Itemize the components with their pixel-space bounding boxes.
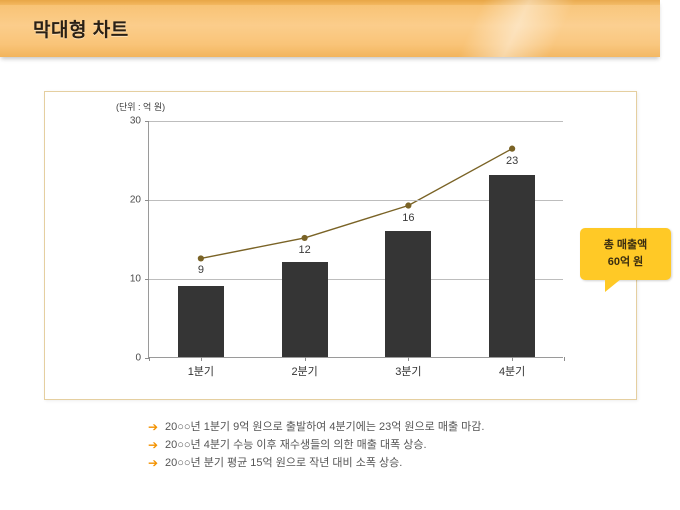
chart-panel: (단위 : 억 원) 010203091분기122분기163분기234분기 총 … <box>44 91 637 400</box>
chart-x-axis-tick-label: 3분기 <box>373 363 443 379</box>
bullet-list: ➔20○○년 1분기 9억 원으로 출발하여 4분기에는 23억 원으로 매출 … <box>148 418 484 472</box>
bullet-item-text: 20○○년 분기 평균 15억 원으로 작년 대비 소폭 상승. <box>165 454 402 472</box>
chart-bar <box>385 231 431 357</box>
chart-data-label: 23 <box>492 155 532 167</box>
chart-y-axis-tick-mark <box>145 279 149 280</box>
chart-bar <box>489 175 535 357</box>
chart-gridline <box>149 121 563 122</box>
chart-y-axis-tick-label: 10 <box>113 274 141 285</box>
chart-bar <box>178 286 224 357</box>
chart-x-axis-tick-mark <box>564 357 565 361</box>
chart-y-axis-tick-mark <box>145 121 149 122</box>
chart-x-axis-tick-label: 1분기 <box>166 363 236 379</box>
chart-line-marker <box>302 235 308 241</box>
chart-y-axis-tick-label: 0 <box>113 353 141 364</box>
callout-line-2: 60억 원 <box>608 254 644 271</box>
chart-data-label: 9 <box>181 264 221 276</box>
bullet-item: ➔20○○년 분기 평균 15억 원으로 작년 대비 소폭 상승. <box>148 454 484 472</box>
bullet-item-text: 20○○년 4분기 수능 이후 재수생들의 의한 매출 대폭 상승. <box>165 436 427 454</box>
callout-tail <box>605 279 621 292</box>
arrow-right-icon: ➔ <box>148 454 165 472</box>
chart-x-axis-tick-mark <box>512 357 513 361</box>
chart-unit-label: (단위 : 억 원) <box>116 100 165 113</box>
slide: 막대형 차트 (단위 : 억 원) 010203091분기122분기163분기2… <box>0 0 680 510</box>
chart-x-axis-tick-label: 2분기 <box>270 363 340 379</box>
page-title: 막대형 차트 <box>33 15 129 42</box>
callout-line-1: 총 매출액 <box>604 237 648 254</box>
bullet-item-text: 20○○년 1분기 9억 원으로 출발하여 4분기에는 23억 원으로 매출 마… <box>165 418 484 436</box>
chart-x-axis-tick-mark <box>201 357 202 361</box>
chart-data-label: 16 <box>388 212 428 224</box>
total-sales-callout: 총 매출액 60억 원 <box>580 228 671 280</box>
chart-line-marker <box>198 255 204 261</box>
chart-trend-line <box>201 149 512 259</box>
chart-plot-area: 010203091분기122분기163분기234분기 <box>148 121 563 358</box>
chart-bar <box>282 262 328 357</box>
chart-y-axis-tick-label: 20 <box>113 195 141 206</box>
chart-line-marker <box>509 146 515 152</box>
chart-y-axis-tick-mark <box>145 200 149 201</box>
chart-x-axis-tick-mark <box>408 357 409 361</box>
header-gloss-decoration <box>360 0 660 57</box>
arrow-right-icon: ➔ <box>148 436 165 454</box>
bullet-item: ➔20○○년 4분기 수능 이후 재수생들의 의한 매출 대폭 상승. <box>148 436 484 454</box>
chart-x-axis-tick-label: 4분기 <box>477 363 547 379</box>
arrow-right-icon: ➔ <box>148 418 165 436</box>
header-bar: 막대형 차트 <box>0 0 660 57</box>
chart-x-axis-tick-mark <box>305 357 306 361</box>
chart-data-label: 12 <box>285 244 325 256</box>
chart-y-axis-tick-label: 30 <box>113 116 141 127</box>
chart-x-axis-tick-mark <box>149 357 150 361</box>
bullet-item: ➔20○○년 1분기 9억 원으로 출발하여 4분기에는 23억 원으로 매출 … <box>148 418 484 436</box>
chart-line-marker <box>405 202 411 208</box>
